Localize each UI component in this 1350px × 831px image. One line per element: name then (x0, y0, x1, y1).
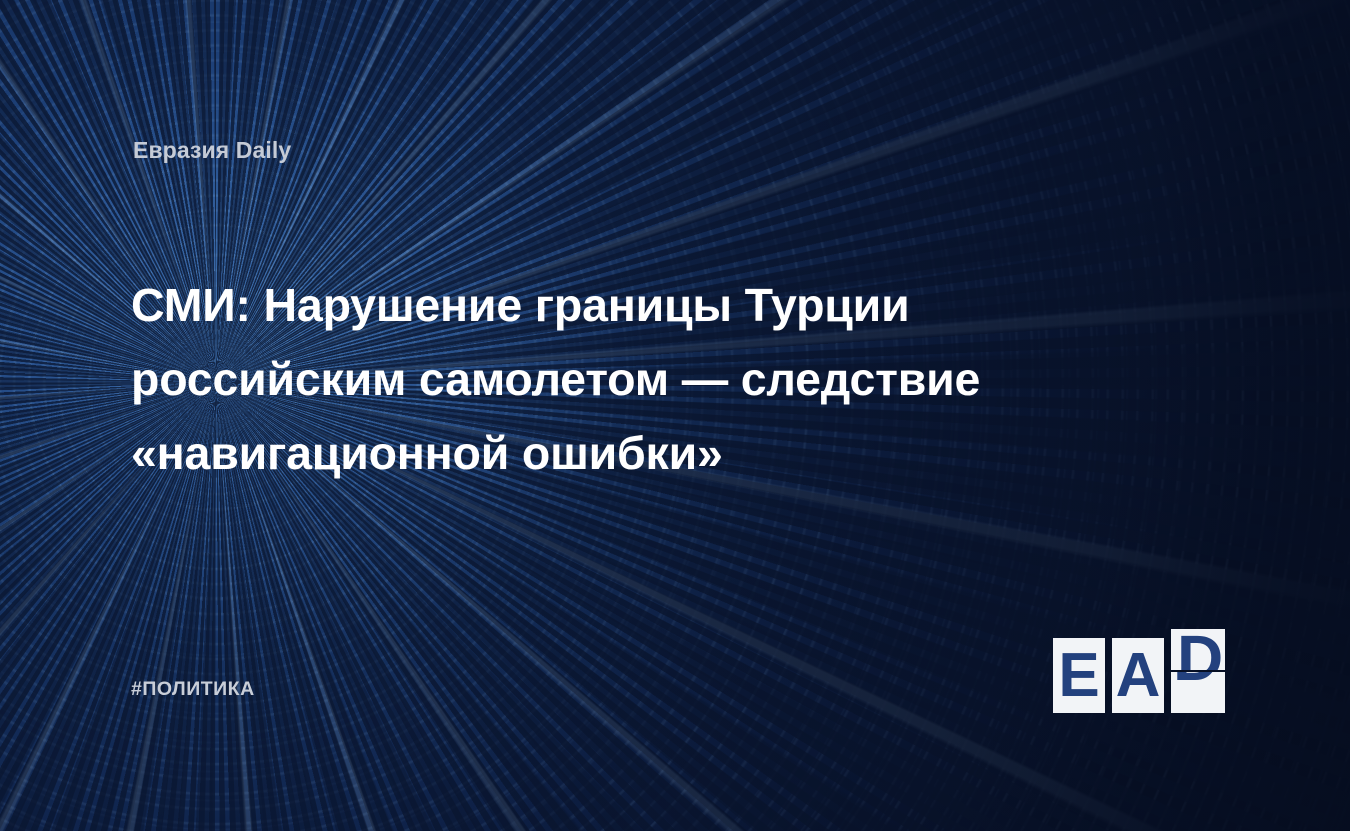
logo-letter-d-glyph-top: D (1177, 629, 1223, 670)
logo-letter-d: D D (1171, 629, 1225, 713)
logo-letter-d-glyph-bottom: D (1173, 672, 1219, 690)
eadaily-logo[interactable]: E A D D (1053, 629, 1225, 713)
headline-line-2: российским самолетом — следствие (131, 342, 1151, 416)
page-title: СМИ: Нарушение границы Турции российским… (131, 268, 1151, 490)
logo-letter-d-top-half: D (1171, 629, 1225, 670)
headline-line-1: СМИ: Нарушение границы Турции (131, 268, 1151, 342)
logo-letter-d-bottom-half: D (1171, 672, 1225, 713)
news-share-card: Евразия Daily СМИ: Нарушение границы Тур… (0, 0, 1350, 831)
brand-name: Евразия Daily (133, 137, 291, 164)
card-content: Евразия Daily СМИ: Нарушение границы Тур… (0, 0, 1350, 831)
headline-line-3: «навигационной ошибки» (131, 416, 1151, 490)
logo-letter-e: E (1053, 638, 1105, 713)
category-tag[interactable]: #ПОЛИТИКА (131, 678, 255, 701)
logo-letter-a: A (1112, 638, 1164, 713)
